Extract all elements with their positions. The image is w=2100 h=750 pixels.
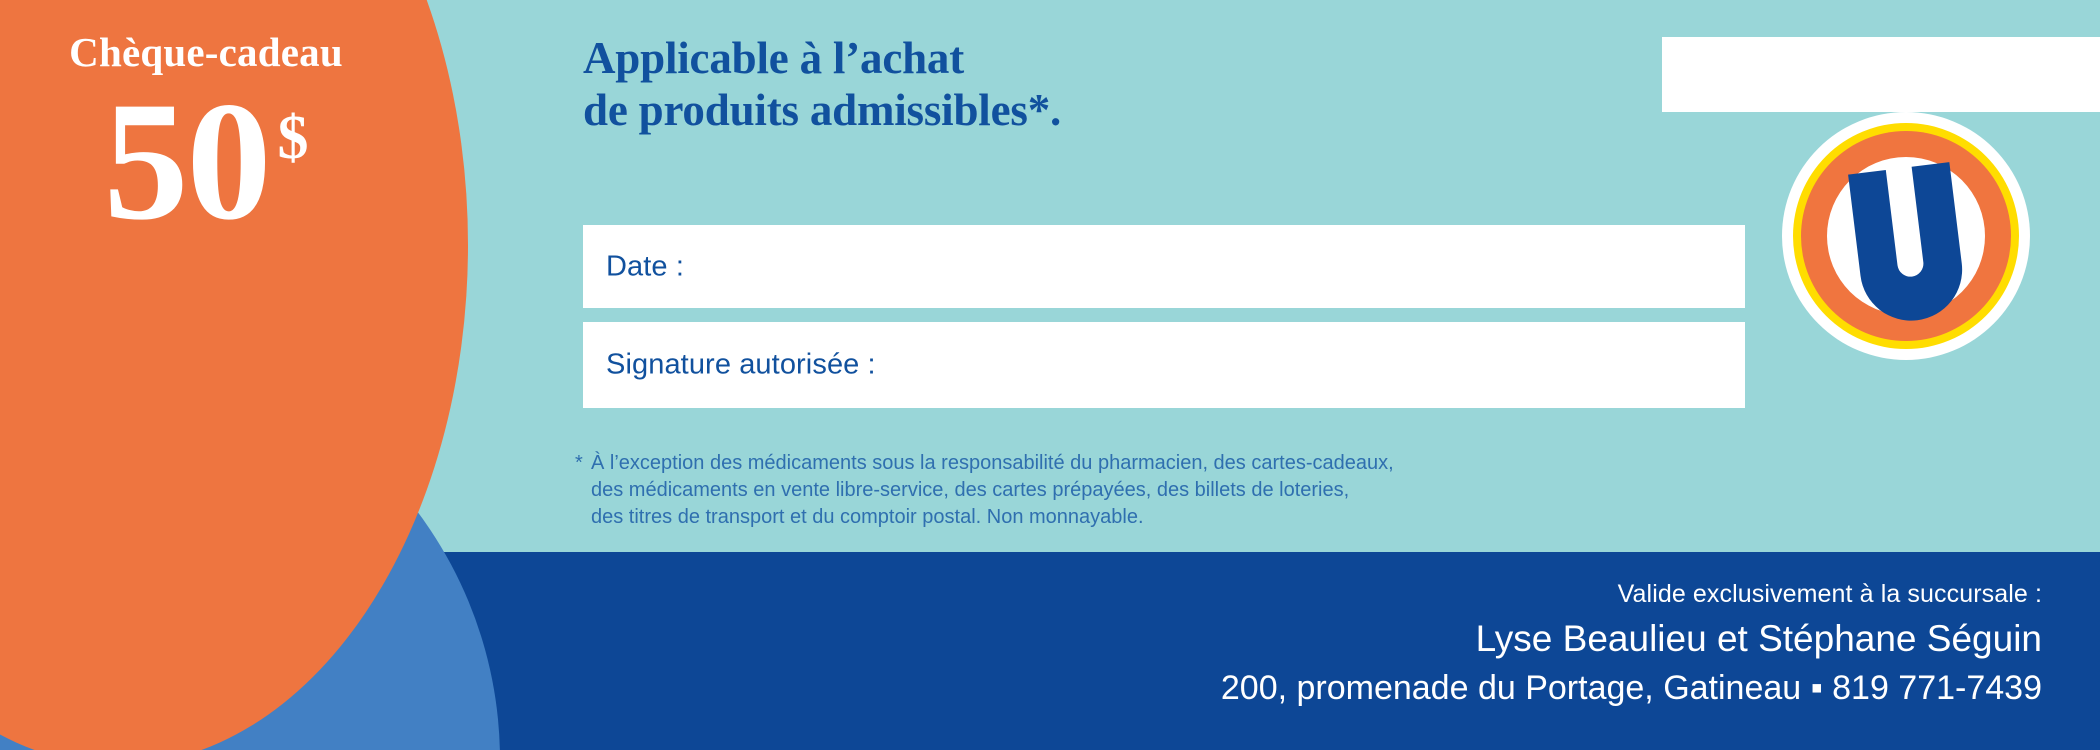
uniprix-u-logo (1782, 112, 2030, 360)
date-field-label: Date : (606, 250, 684, 283)
amount-row: 50 $ (0, 81, 412, 243)
fine-print: * À l’exception des médicaments sous la … (575, 450, 1394, 532)
fine-print-line-2: des médicaments en vente libre-service, … (591, 477, 1394, 504)
fine-print-line-3: des titres de transport et du comptoir p… (591, 504, 1394, 531)
amount-value: 50 (104, 81, 270, 243)
store-address: 200, promenade du Portage, Gatineau ▪ 81… (1221, 666, 2042, 710)
signature-field-label: Signature autorisée : (606, 349, 876, 382)
store-name: Lyse Beaulieu et Stéphane Séguin (1221, 614, 2042, 664)
store-valid-label: Valide exclusivement à la succursale : (1221, 578, 2042, 611)
u-logo-svg (1782, 112, 2030, 360)
headline-line-2: de produits admissibles*. (583, 84, 1061, 136)
signature-field[interactable]: Signature autorisée : (583, 322, 1745, 408)
store-info: Valide exclusivement à la succursale : L… (1221, 578, 2042, 711)
blank-write-in-box[interactable] (1662, 37, 2100, 112)
fine-print-marker: * (575, 450, 583, 477)
gift-certificate: Chèque-cadeau 50 $ Applicable à l’achat … (0, 0, 2100, 750)
page-title: Applicable à l’achat de produits admissi… (583, 32, 1061, 136)
headline-line-1: Applicable à l’achat (583, 32, 1061, 84)
fine-print-lines: À l’exception des médicaments sous la re… (591, 450, 1394, 532)
fine-print-line-1: À l’exception des médicaments sous la re… (591, 450, 1394, 477)
currency-symbol: $ (278, 107, 309, 169)
date-field[interactable]: Date : (583, 225, 1745, 308)
value-panel: Chèque-cadeau 50 $ (0, 0, 412, 300)
